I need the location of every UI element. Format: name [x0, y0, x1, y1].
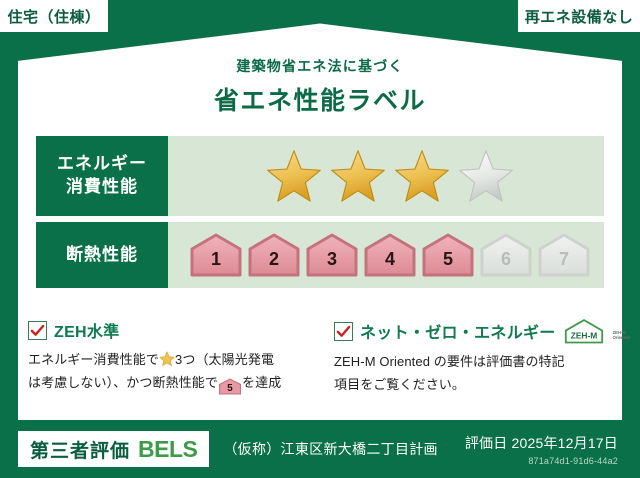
rating-label-insulation-line1: 断熱性能 — [66, 244, 138, 267]
notes-section: ZEH水準 エネルギー消費性能で 3つ（太陽光発電は考慮しない）、かつ断熱性能で… — [28, 318, 612, 397]
note-right-line2: 項目をご覧ください。 — [334, 377, 465, 392]
bels-badge: 第三者評価 BELS — [18, 431, 209, 467]
building-name: （仮称）江東区新大橋二丁目計画 — [223, 439, 438, 459]
evaluation-date: 評価日 2025年12月17日 — [465, 433, 618, 453]
note-text-part2: 3つ（太陽光発電 — [175, 352, 274, 367]
rating-row-energy: エネルギー 消費性能 — [36, 136, 604, 216]
rating-label-energy-line1: エネルギー — [57, 153, 147, 176]
zeh-m-caption-line2: Oriented — [613, 335, 630, 340]
note-net-zero-energy-title: ネット・ゼロ・エネルギー — [360, 319, 556, 343]
bels-jp-label: 第三者評価 — [30, 436, 130, 463]
star-filled-icon — [265, 148, 323, 204]
rating-label-insulation: 断熱性能 — [36, 222, 168, 288]
checkmark-icon — [28, 321, 47, 340]
insulation-badge-inactive: 7 — [538, 233, 590, 277]
inline-insulation-badge-icon: 5 — [219, 378, 241, 395]
insulation-badge-value: 5 — [443, 250, 453, 277]
label-footer: 第三者評価 BELS （仮称）江東区新大橋二丁目計画 評価日 2025年12月1… — [0, 420, 640, 478]
note-zeh-standard-head: ZEH水準 — [28, 318, 310, 342]
tag-building-type: 住宅（住棟） — [0, 0, 108, 32]
note-net-zero-energy-text: ZEH-M Oriented の要件は評価書の特記 項目をご覧ください。 — [334, 351, 602, 397]
label-heading: 建築物省エネ法に基づく 省エネ性能ラベル — [0, 56, 640, 117]
tag-renewable-energy-label: 再エネ設備なし — [525, 6, 634, 27]
note-net-zero-energy-head: ネット・ゼロ・エネルギー ZEH-M ZEH-M Oriented — [334, 318, 602, 344]
ratings-section: エネルギー 消費性能 断熱性能 1234567 — [36, 136, 604, 288]
star-filled-icon — [393, 148, 451, 204]
rating-row-insulation: 断熱性能 1234567 — [36, 222, 604, 288]
note-net-zero-energy: ネット・ゼロ・エネルギー ZEH-M ZEH-M Oriented ZEH-M … — [320, 318, 612, 397]
insulation-badge-value: 6 — [501, 250, 511, 277]
rating-label-energy-line2: 消費性能 — [66, 176, 138, 199]
zeh-m-logo-icon: ZEH-M — [563, 318, 605, 344]
zeh-m-logo-caption: ZEH-M Oriented — [613, 330, 630, 345]
evaluation-info: 評価日 2025年12月17日 871a74d1-91d6-44a2 — [465, 433, 618, 466]
note-zeh-standard-title: ZEH水準 — [54, 318, 120, 342]
star-empty-icon — [457, 148, 515, 204]
tag-renewable-energy: 再エネ設備なし — [518, 0, 640, 32]
insulation-level-scale: 1234567 — [168, 222, 604, 288]
rating-label-energy: エネルギー 消費性能 — [36, 136, 168, 216]
star-filled-icon — [329, 148, 387, 204]
energy-label-card: 住宅（住棟） 再エネ設備なし 建築物省エネ法に基づく 省エネ性能ラベル エネルギ… — [0, 0, 640, 478]
insulation-badge-active: 2 — [248, 233, 300, 277]
zeh-m-caption-line1: ZEH-M — [613, 330, 626, 335]
note-text-part3: は考慮しない）、かつ断熱性能で — [28, 375, 218, 390]
insulation-badge-value: 2 — [269, 250, 279, 277]
note-zeh-standard: ZEH水準 エネルギー消費性能で 3つ（太陽光発電は考慮しない）、かつ断熱性能で… — [28, 318, 320, 397]
evaluation-id: 871a74d1-91d6-44a2 — [465, 456, 618, 466]
star-rating — [168, 136, 604, 216]
note-text-part4: を達成 — [242, 375, 281, 390]
insulation-badge-value: 7 — [559, 250, 569, 277]
note-text-part1: エネルギー消費性能で — [28, 352, 159, 367]
note-right-line1: ZEH-M Oriented の要件は評価書の特記 — [334, 354, 565, 369]
insulation-badge-active: 3 — [306, 233, 358, 277]
insulation-badge-value: 1 — [211, 250, 221, 277]
svg-text:ZEH-M: ZEH-M — [570, 330, 597, 340]
insulation-badge-inactive: 6 — [480, 233, 532, 277]
insulation-badge-active: 1 — [190, 233, 242, 277]
note-zeh-standard-text: エネルギー消費性能で 3つ（太陽光発電は考慮しない）、かつ断熱性能で 5を達成 — [28, 349, 310, 395]
insulation-badge-value: 4 — [385, 250, 395, 277]
insulation-badge-active: 5 — [422, 233, 474, 277]
inline-star-icon — [159, 351, 175, 367]
inline-insulation-badge-value: 5 — [219, 378, 241, 400]
heading-subtitle: 建築物省エネ法に基づく — [0, 56, 640, 76]
insulation-badge-value: 3 — [327, 250, 337, 277]
heading-title: 省エネ性能ラベル — [0, 81, 640, 117]
bels-en-label: BELS — [138, 436, 197, 463]
insulation-badge-active: 4 — [364, 233, 416, 277]
checkmark-icon — [334, 322, 353, 341]
tag-building-type-label: 住宅（住棟） — [7, 6, 100, 27]
